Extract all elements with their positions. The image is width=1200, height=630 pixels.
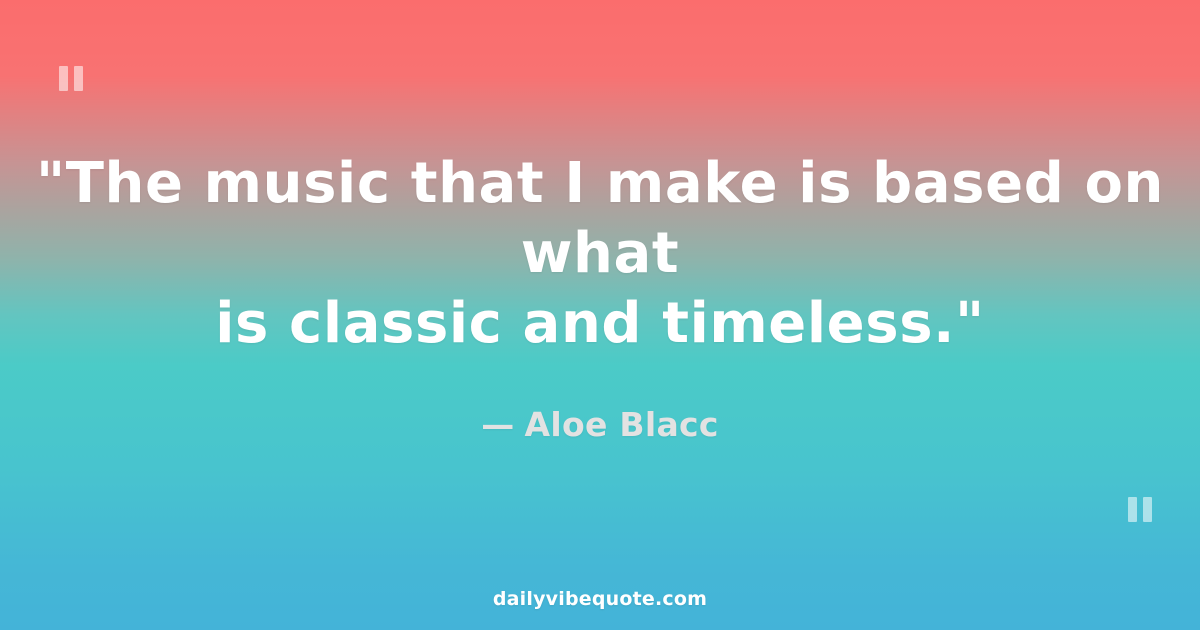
quote-bar-right <box>74 66 83 91</box>
open-quote-mark-icon <box>59 66 83 91</box>
quote-attribution: —Aloe Blacc <box>35 405 1165 445</box>
quote-text: "The music that I make is based on what … <box>35 149 1165 359</box>
site-watermark: dailyvibequote.com <box>0 588 1200 610</box>
quote-body: "The music that I make is based on what … <box>35 149 1165 445</box>
quote-card: "The music that I make is based on what … <box>0 0 1200 630</box>
attribution-dash: — <box>481 405 514 444</box>
quote-text-line-2: is classic and timeless." <box>215 291 985 356</box>
quote-bar-left <box>1128 497 1137 522</box>
close-quote-mark-icon <box>1128 497 1152 522</box>
quote-bar-left <box>59 66 68 91</box>
quote-text-line-1: "The music that I make is based on what <box>36 151 1164 286</box>
attribution-author: Aloe Blacc <box>525 405 719 444</box>
quote-bar-right <box>1143 497 1152 522</box>
